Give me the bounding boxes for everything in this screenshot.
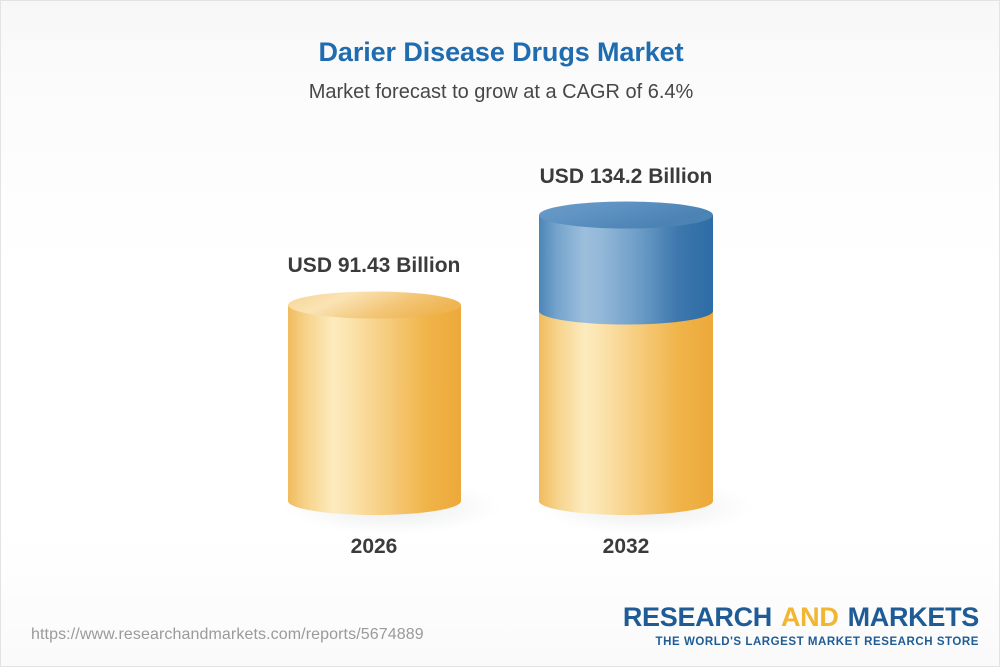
chart-footer: https://www.researchandmarkets.com/repor… bbox=[1, 588, 1000, 666]
cylinder-bars-svg bbox=[1, 1, 1000, 601]
source-url-link[interactable]: https://www.researchandmarkets.com/repor… bbox=[31, 626, 424, 644]
logo-word-markets: MARKETS bbox=[848, 602, 979, 632]
logo-word-research: RESEARCH bbox=[623, 602, 772, 632]
logo-tagline: THE WORLD'S LARGEST MARKET RESEARCH STOR… bbox=[623, 631, 979, 649]
chart-plot-area: USD 91.43 Billion USD 134.2 Billion bbox=[1, 1, 1000, 601]
chart-page: Darier Disease Drugs Market Market forec… bbox=[0, 0, 1000, 667]
logo-wordmark: RESEARCHANDMARKETS bbox=[623, 604, 979, 631]
category-label-2032: 2032 bbox=[476, 535, 776, 559]
bar-2032 bbox=[535, 202, 755, 536]
research-and-markets-logo[interactable]: RESEARCHANDMARKETS THE WORLD'S LARGEST M… bbox=[623, 604, 979, 649]
logo-word-and: AND bbox=[772, 602, 848, 632]
bar-2026 bbox=[283, 292, 503, 536]
